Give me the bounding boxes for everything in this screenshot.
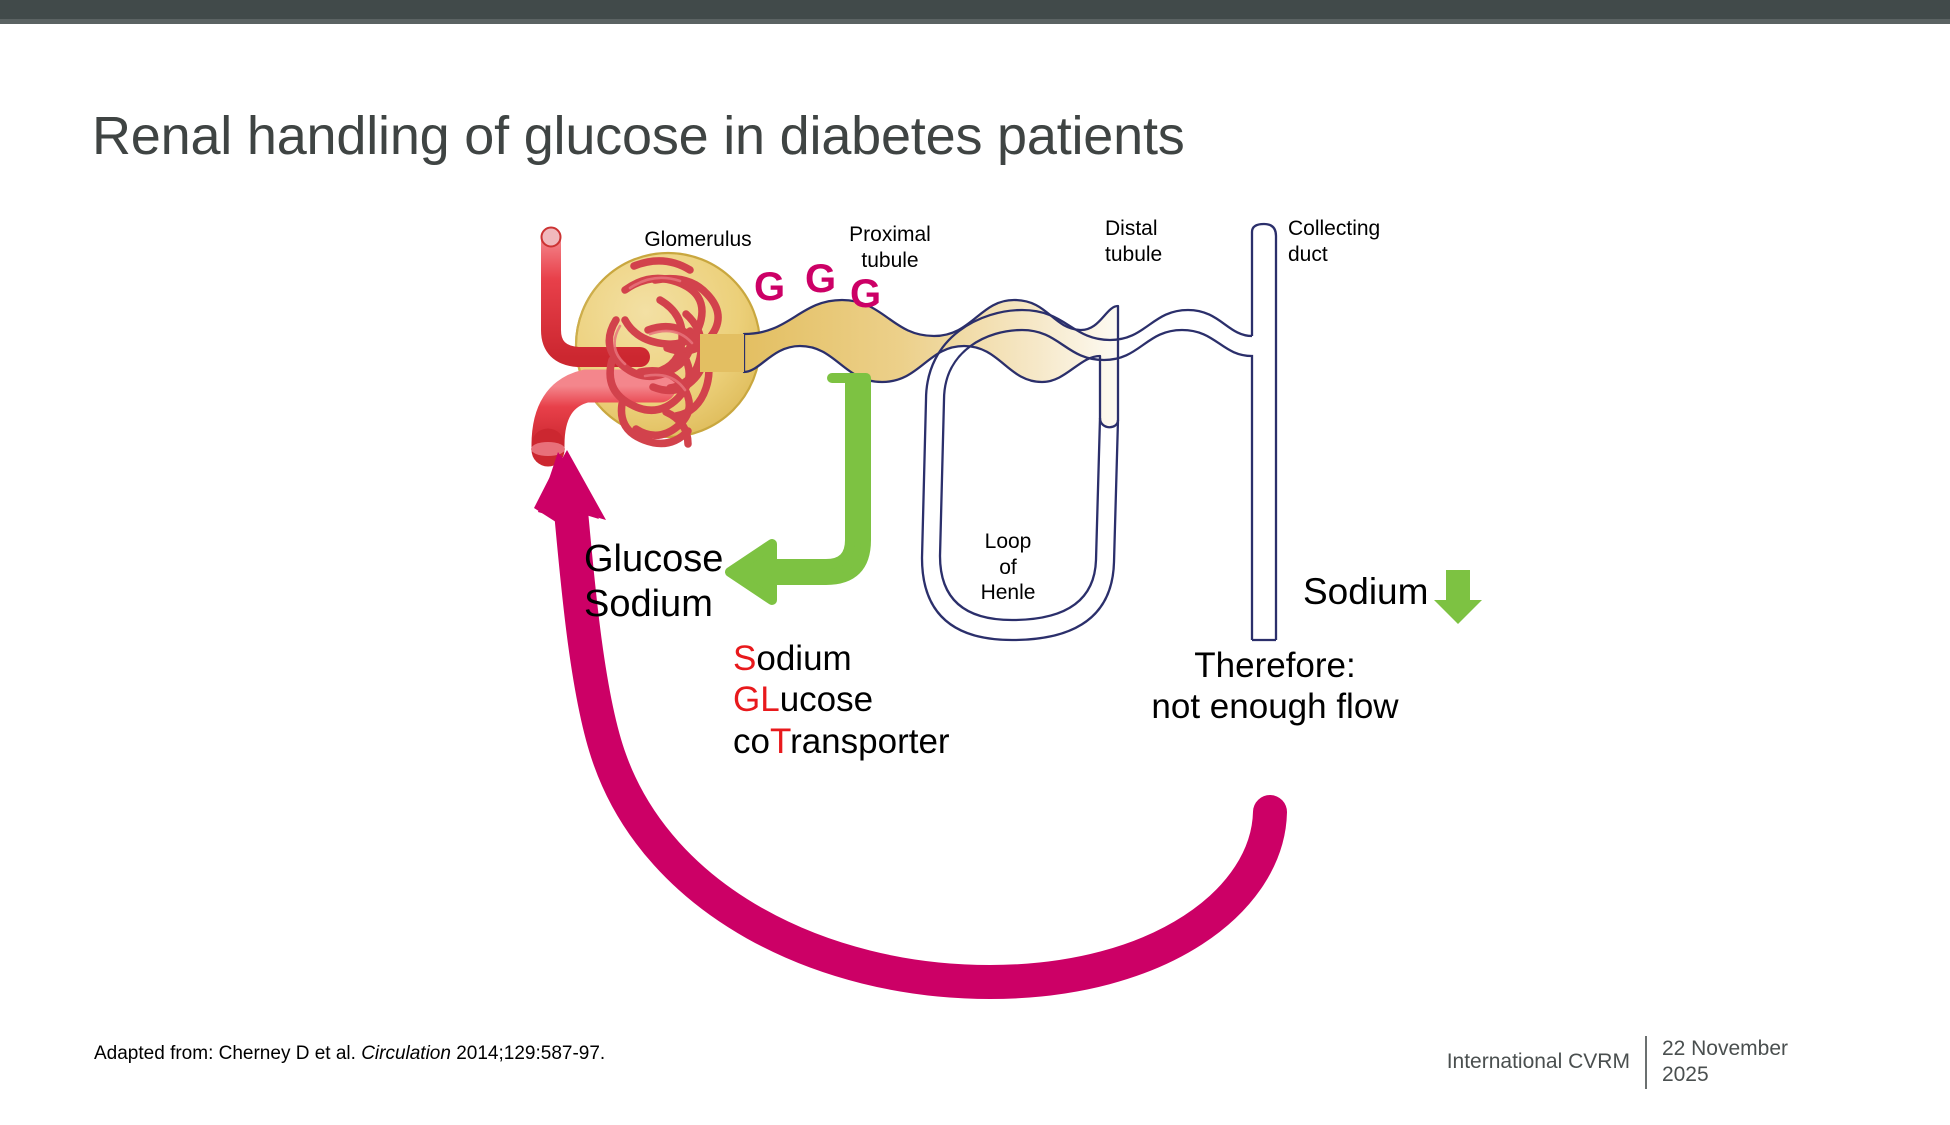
proximal-tubule bbox=[700, 300, 1118, 427]
label-proximal-tubule: Proximal tubule bbox=[815, 222, 965, 273]
sglt-line-sodium: Sodium bbox=[733, 638, 950, 679]
conclusion-line2: not enough flow bbox=[1150, 686, 1400, 727]
label-proximal-tubule-line2: tubule bbox=[815, 248, 965, 274]
label-collecting-duct: Collecting duct bbox=[1288, 216, 1458, 267]
label-proximal-tubule-line1: Proximal bbox=[815, 222, 965, 248]
sglt-accent-s: S bbox=[733, 639, 756, 678]
footer-date-line1: 22 November bbox=[1662, 1036, 1788, 1062]
label-collecting-duct-line2: duct bbox=[1288, 242, 1458, 268]
label-distal-tubule: Distal tubule bbox=[1105, 216, 1245, 267]
footer-date: 22 November 2025 bbox=[1647, 1036, 1788, 1089]
sglt-rest-ucose: ucose bbox=[780, 680, 873, 719]
glucose-marker-1: G bbox=[754, 265, 785, 309]
sglt-line-cotransporter: coTransporter bbox=[733, 721, 950, 762]
footer-date-line2: 2025 bbox=[1662, 1062, 1788, 1088]
conclusion-line1: Therefore: bbox=[1150, 645, 1400, 686]
sglt-accent-t: T bbox=[770, 722, 790, 761]
label-distal-tubule-line1: Distal bbox=[1105, 216, 1245, 242]
citation-prefix: Adapted from: Cherney D et al. bbox=[94, 1043, 361, 1064]
label-loop-of-henle: Loop of Henle bbox=[956, 529, 1060, 606]
footer-meta: International CVRM 22 November 2025 bbox=[1447, 1036, 1788, 1089]
glucose-marker-3: G bbox=[850, 272, 881, 316]
conclusion-text: Therefore: not enough flow bbox=[1150, 645, 1400, 728]
citation-reference: Adapted from: Cherney D et al. Circulati… bbox=[94, 1043, 605, 1065]
label-distal-tubule-line2: tubule bbox=[1105, 242, 1245, 268]
label-loop-line2: of bbox=[956, 555, 1060, 581]
reabsorption-label-sodium: Sodium bbox=[584, 582, 723, 627]
label-collecting-duct-line1: Collecting bbox=[1288, 216, 1458, 242]
sglt-acronym-expansion: Sodium GLucose coTransporter bbox=[733, 638, 950, 762]
label-loop-line1: Loop bbox=[956, 529, 1060, 555]
citation-suffix: 2014;129:587-97. bbox=[451, 1043, 605, 1064]
citation-journal: Circulation bbox=[361, 1043, 451, 1064]
sodium-delivery-label: Sodium bbox=[1303, 570, 1428, 614]
footer-organization: International CVRM bbox=[1447, 1050, 1645, 1074]
reabsorption-label-glucose: Glucose bbox=[584, 537, 723, 582]
label-loop-line3: Henle bbox=[956, 580, 1060, 606]
sglt-rest-odium: odium bbox=[756, 639, 851, 678]
label-glomerulus: Glomerulus bbox=[608, 227, 788, 253]
sglt-accent-gl: GL bbox=[733, 680, 780, 719]
sglt-pre-co: co bbox=[733, 722, 770, 761]
sglt-rest-ransporter: ransporter bbox=[790, 722, 950, 761]
reabsorption-label: Glucose Sodium bbox=[584, 537, 723, 627]
sodium-decrease-arrow-icon bbox=[1434, 570, 1482, 624]
sglt-line-glucose: GLucose bbox=[733, 679, 950, 720]
collecting-duct bbox=[1252, 224, 1276, 640]
reabsorption-arrow-green bbox=[730, 378, 866, 600]
